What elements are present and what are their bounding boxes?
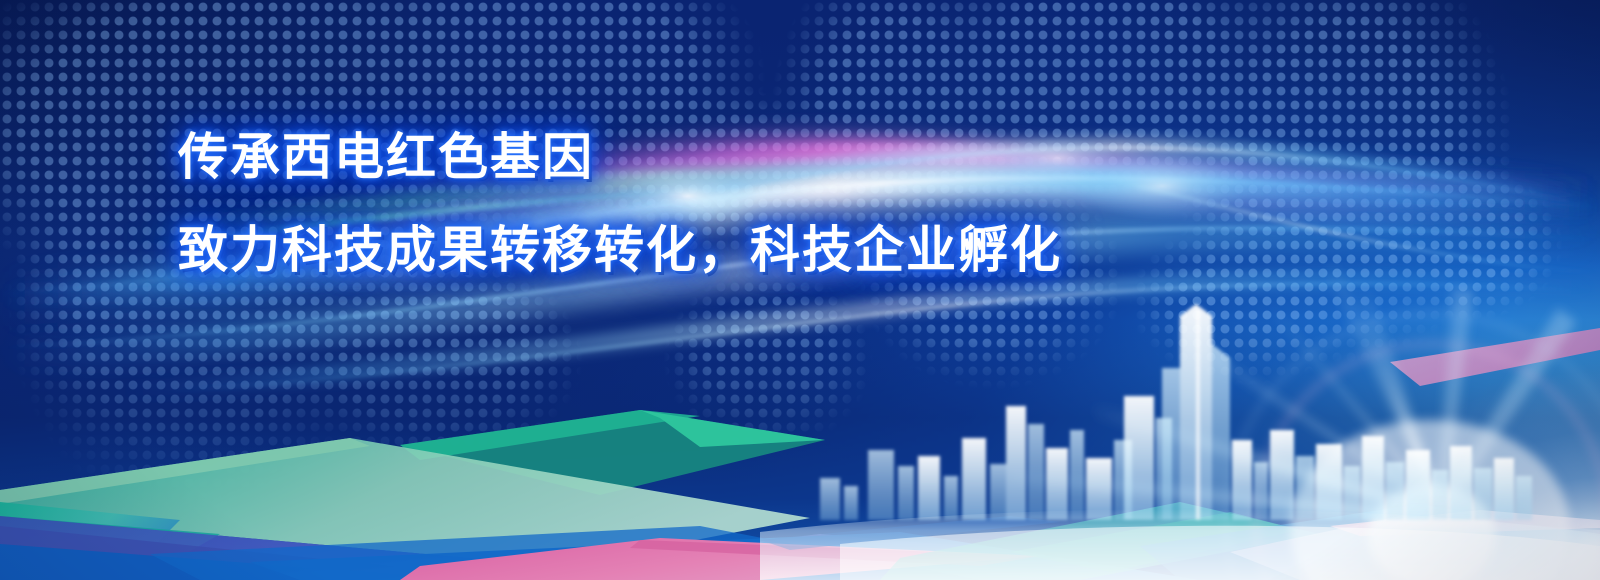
headline-line-1: 传承西电红色基因 <box>178 132 1298 182</box>
hero-banner: 传承西电红色基因 致力科技成果转移转化，科技企业孵化 <box>0 0 1600 580</box>
headline-line-2: 致力科技成果转移转化，科技企业孵化 <box>178 225 1298 275</box>
city-skyline <box>0 280 1600 580</box>
headline-block: 传承西电红色基因 致力科技成果转移转化，科技企业孵化 <box>178 132 1298 275</box>
